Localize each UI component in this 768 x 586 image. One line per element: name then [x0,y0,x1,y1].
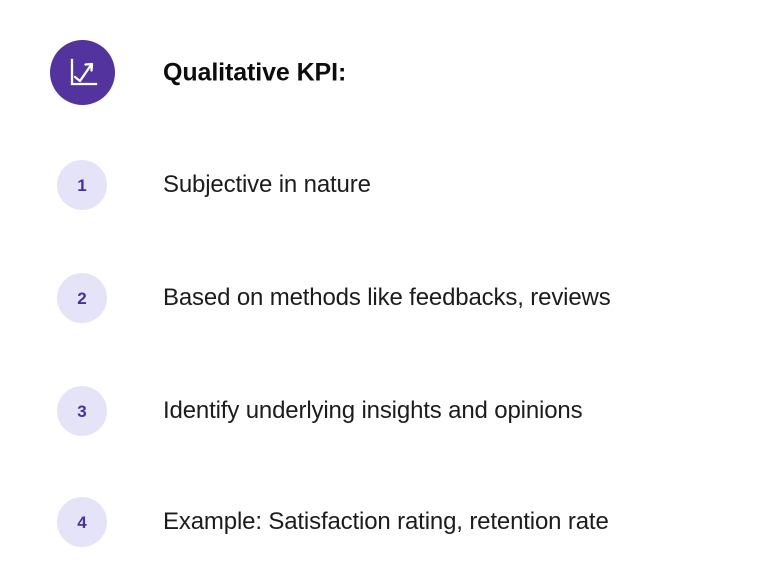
list-item-label: Identify underlying insights and opinion… [163,397,582,425]
list-item-number-badge: 4 [57,497,107,547]
header-row: Qualitative KPI: [0,40,768,106]
list-item: 1 Subjective in nature [0,160,768,210]
list-item-number-badge: 2 [57,273,107,323]
qualitative-kpi-slide: Qualitative KPI: 1 Subjective in nature … [0,0,768,586]
list-item-number-badge: 1 [57,160,107,210]
list-item: 3 Identify underlying insights and opini… [0,386,768,436]
list-item-label: Subjective in nature [163,171,371,199]
list-item-label: Example: Satisfaction rating, retention … [163,508,609,536]
line-chart-up-arrow-icon [50,40,115,105]
page-title: Qualitative KPI: [163,59,346,88]
list-item-label: Based on methods like feedbacks, reviews [163,284,611,312]
list-item: 4 Example: Satisfaction rating, retentio… [0,497,768,547]
list-item: 2 Based on methods like feedbacks, revie… [0,273,768,323]
list-item-number-badge: 3 [57,386,107,436]
